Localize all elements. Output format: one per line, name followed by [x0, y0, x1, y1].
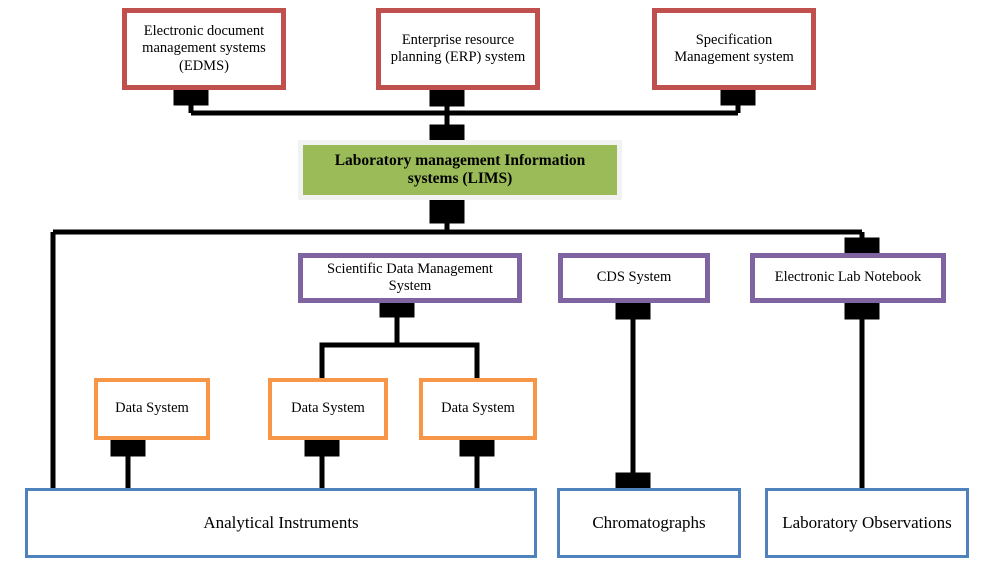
node-electronic-lab-notebook[interactable]: Electronic Lab Notebook — [750, 253, 946, 303]
node-data-system-2[interactable]: Data System — [268, 378, 388, 440]
node-laboratory-observations-label: Laboratory Observations — [776, 513, 957, 533]
node-edms[interactable]: Electronic document management systems (… — [122, 8, 286, 90]
node-analytical-instruments[interactable]: Analytical Instruments — [25, 488, 537, 558]
node-laboratory-observations[interactable]: Laboratory Observations — [765, 488, 969, 558]
node-cds-system-label: CDS System — [591, 269, 678, 286]
node-cds-system[interactable]: CDS System — [558, 253, 710, 303]
node-specification-management[interactable]: Specification Management system — [652, 8, 816, 90]
node-lims-label: Laboratory management Information system… — [303, 152, 617, 189]
node-data-system-2-label: Data System — [285, 400, 371, 417]
node-electronic-lab-notebook-label: Electronic Lab Notebook — [769, 269, 928, 286]
node-sdms-label: Scientific Data Management System — [303, 261, 517, 295]
node-analytical-instruments-label: Analytical Instruments — [197, 513, 364, 533]
node-lims[interactable]: Laboratory management Information system… — [298, 140, 622, 200]
node-data-system-1-label: Data System — [109, 400, 195, 417]
node-edms-label: Electronic document management systems (… — [127, 23, 281, 74]
node-erp[interactable]: Enterprise resource planning (ERP) syste… — [376, 8, 540, 90]
wire-datasystems-junction — [322, 345, 477, 382]
node-data-system-3-label: Data System — [435, 400, 521, 417]
node-data-system-1[interactable]: Data System — [94, 378, 210, 440]
node-sdms[interactable]: Scientific Data Management System — [298, 253, 522, 303]
node-erp-label: Enterprise resource planning (ERP) syste… — [381, 32, 535, 66]
node-data-system-3[interactable]: Data System — [419, 378, 537, 440]
node-chromatographs[interactable]: Chromatographs — [557, 488, 741, 558]
diagram-canvas: Electronic document management systems (… — [0, 0, 995, 579]
node-specification-management-label: Specification Management system — [657, 32, 811, 66]
node-chromatographs-label: Chromatographs — [586, 513, 711, 533]
